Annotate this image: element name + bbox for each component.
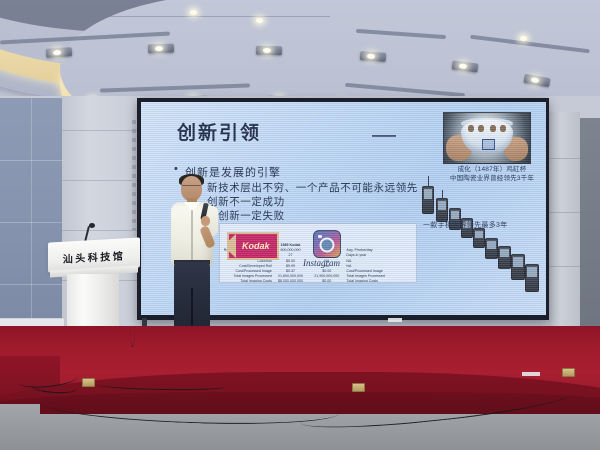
ceiling-downlight-5 xyxy=(520,36,527,41)
ceiling-spotlight-2 xyxy=(148,44,174,54)
slide-sub-bullets: 新技术层出不穷、一个产品不可能永远领先 创新不一定成功 不创新一定失败 xyxy=(207,181,418,223)
phone-5 xyxy=(473,228,485,248)
ceiling-spotlight-4 xyxy=(360,51,387,62)
phone-2 xyxy=(436,198,448,222)
cell-instagram: $0.00 xyxy=(308,279,345,283)
phone-9 xyxy=(525,264,539,292)
instagram-logo-text: Instagram xyxy=(303,258,340,268)
instagram-flash-icon xyxy=(318,235,322,238)
phone-7 xyxy=(498,246,511,269)
porcelain-bowl-photo xyxy=(443,112,531,164)
paper-scrap-1 xyxy=(522,372,540,376)
ceiling-downlight-4 xyxy=(190,10,197,15)
kodak-logo-text: Kodak xyxy=(242,241,270,251)
cell-label-right: Total Imaging Costs xyxy=(345,279,416,283)
ceiling-seam xyxy=(0,16,330,17)
column-vent-strip xyxy=(132,120,136,230)
phone-6 xyxy=(485,238,498,259)
speaker-glasses xyxy=(182,185,201,190)
speaker-shirt-placket xyxy=(191,210,193,262)
slide-title-dash xyxy=(372,135,396,137)
cell-kodak: $8,000,000,000 xyxy=(273,279,308,283)
floor-outlet-1 xyxy=(82,378,95,387)
floor-outlet-3 xyxy=(562,368,575,377)
bowl-caption: 成化（1487年）鸡缸杯 中国陶瓷业界曾经领先3千年 xyxy=(437,166,546,183)
kodak-arrow-icon xyxy=(229,234,236,258)
lecture-hall-photo: 创新引领 创新是发展的引擎 新技术层出不穷、一个产品不可能永远领先 创新不一定成… xyxy=(0,0,600,450)
phone-caption: 一款手机世界领先最多3年 xyxy=(423,220,508,230)
cell-label-left: Total Imaging Costs xyxy=(220,279,273,283)
hall-floor-left xyxy=(0,404,40,450)
ceiling-spotlight-3 xyxy=(256,46,282,55)
column-right xyxy=(548,112,580,340)
table-row: Total Imaging Costs$8,000,000,000$0.00To… xyxy=(220,279,416,283)
paper-scrap-2 xyxy=(388,318,402,322)
screen-cable xyxy=(130,300,135,347)
bowl-decoration-2 xyxy=(478,125,484,132)
phone-1 xyxy=(422,186,434,214)
bowl-decoration-3 xyxy=(490,125,496,132)
bowl-decoration-1 xyxy=(468,125,474,132)
kodak-logo-inner: Kodak xyxy=(229,234,277,258)
slide-title: 创新引领 xyxy=(177,118,261,145)
floor-outlet-2 xyxy=(352,383,365,392)
phone-8 xyxy=(511,254,525,280)
speaker-hand xyxy=(201,216,210,226)
ceiling-spotlight-1 xyxy=(46,47,73,58)
bowl-decoration-4 xyxy=(500,125,506,132)
ceiling-downlight-3 xyxy=(256,18,263,23)
podium-microphone xyxy=(89,223,95,228)
bowl-reign-mark xyxy=(482,139,495,150)
instagram-lens-icon xyxy=(320,237,335,252)
instagram-camera-icon xyxy=(313,230,341,258)
kodak-logo: Kodak xyxy=(227,232,279,260)
wall-panel-right xyxy=(580,118,600,338)
